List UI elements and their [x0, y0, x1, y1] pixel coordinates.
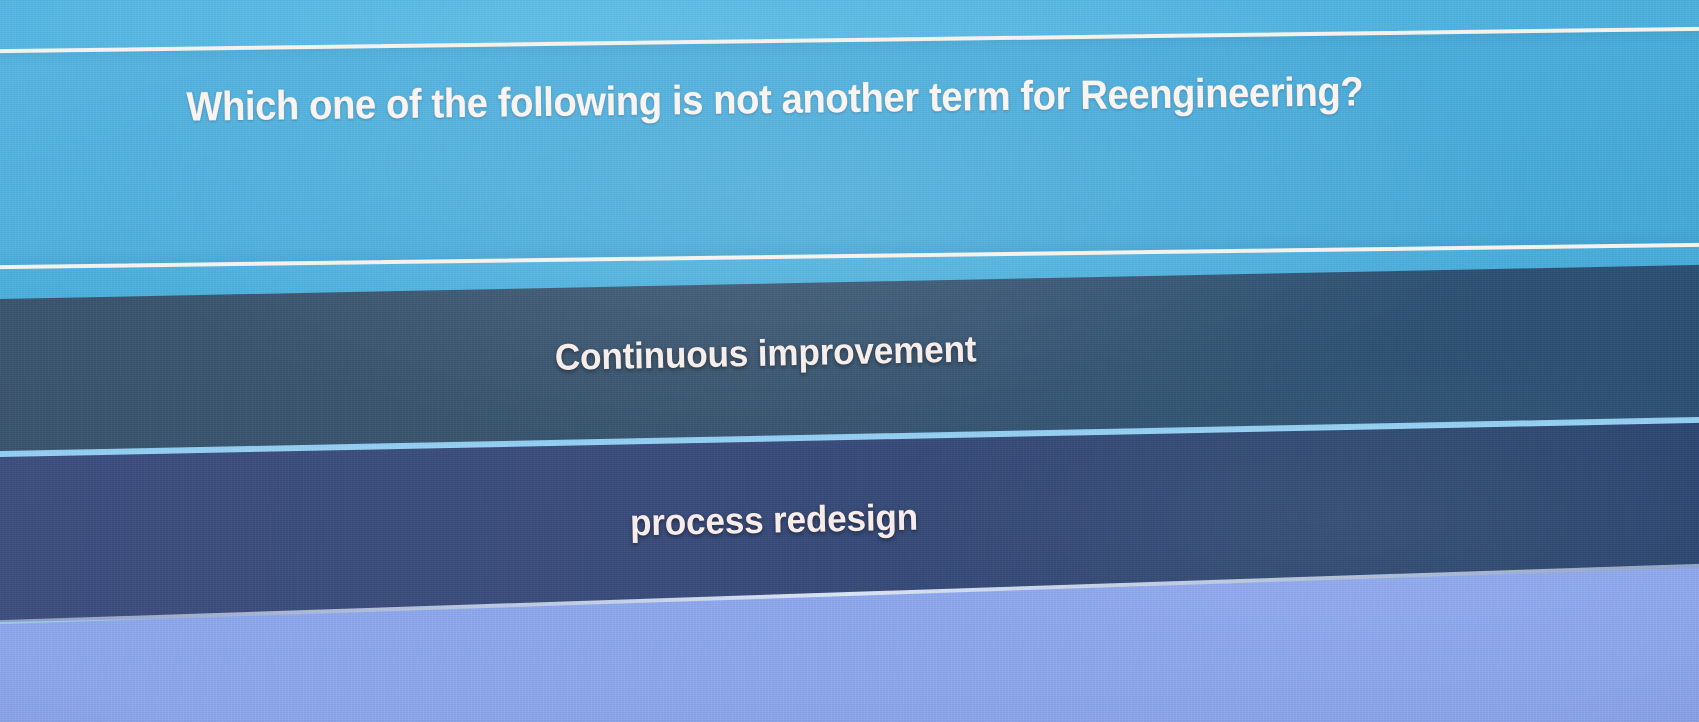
question-text: Which one of the following is not anothe… [186, 70, 1340, 131]
answer-option-label: Continuous improvement [554, 328, 976, 378]
quiz-screen-photo: Which one of the following is not anothe… [0, 0, 1699, 722]
answer-option-label: process redesign [630, 497, 919, 545]
question-card: Which one of the following is not anothe… [0, 26, 1699, 269]
